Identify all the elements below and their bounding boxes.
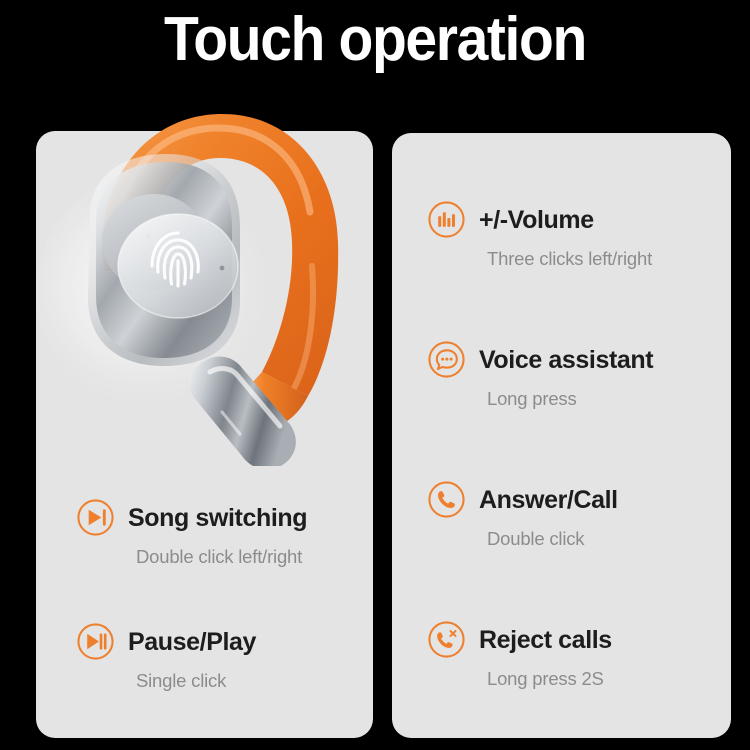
feature-subtitle: Three clicks left/right: [487, 247, 652, 271]
feature-head: +/-Volume: [427, 200, 652, 239]
feature-head: Song switching: [76, 498, 307, 537]
speech-bubble-icon: [427, 340, 466, 379]
feature-answer-call[interactable]: Answer/Call Double click: [427, 480, 618, 551]
feature-reject-calls[interactable]: Reject calls Long press 2S: [427, 620, 612, 691]
phone-icon: [427, 480, 466, 519]
feature-subtitle: Double click: [487, 527, 618, 551]
feature-title: Voice assistant: [479, 345, 653, 375]
feature-subtitle: Single click: [136, 669, 256, 693]
feature-subtitle: Long press 2S: [487, 667, 612, 691]
feature-title: Answer/Call: [479, 485, 618, 515]
feature-head: Answer/Call: [427, 480, 618, 519]
feature-title: Reject calls: [479, 625, 612, 655]
volume-bars-icon: [427, 200, 466, 239]
feature-pause-play[interactable]: Pause/Play Single click: [76, 622, 256, 693]
feature-subtitle: Double click left/right: [136, 545, 307, 569]
feature-head: Reject calls: [427, 620, 612, 659]
phone-reject-icon: [427, 620, 466, 659]
feature-subtitle: Long press: [487, 387, 653, 411]
feature-head: Pause/Play: [76, 622, 256, 661]
feature-title: +/-Volume: [479, 205, 594, 235]
feature-song-switching[interactable]: Song switching Double click left/right: [76, 498, 307, 569]
feature-volume[interactable]: +/-Volume Three clicks left/right: [427, 200, 652, 271]
feature-title: Pause/Play: [128, 627, 256, 657]
feature-head: Voice assistant: [427, 340, 653, 379]
page-title: Touch operation: [30, 4, 720, 76]
feature-voice-assistant[interactable]: Voice assistant Long press: [427, 340, 653, 411]
skip-next-icon: [76, 498, 115, 537]
feature-title: Song switching: [128, 503, 307, 533]
play-pause-icon: [76, 622, 115, 661]
